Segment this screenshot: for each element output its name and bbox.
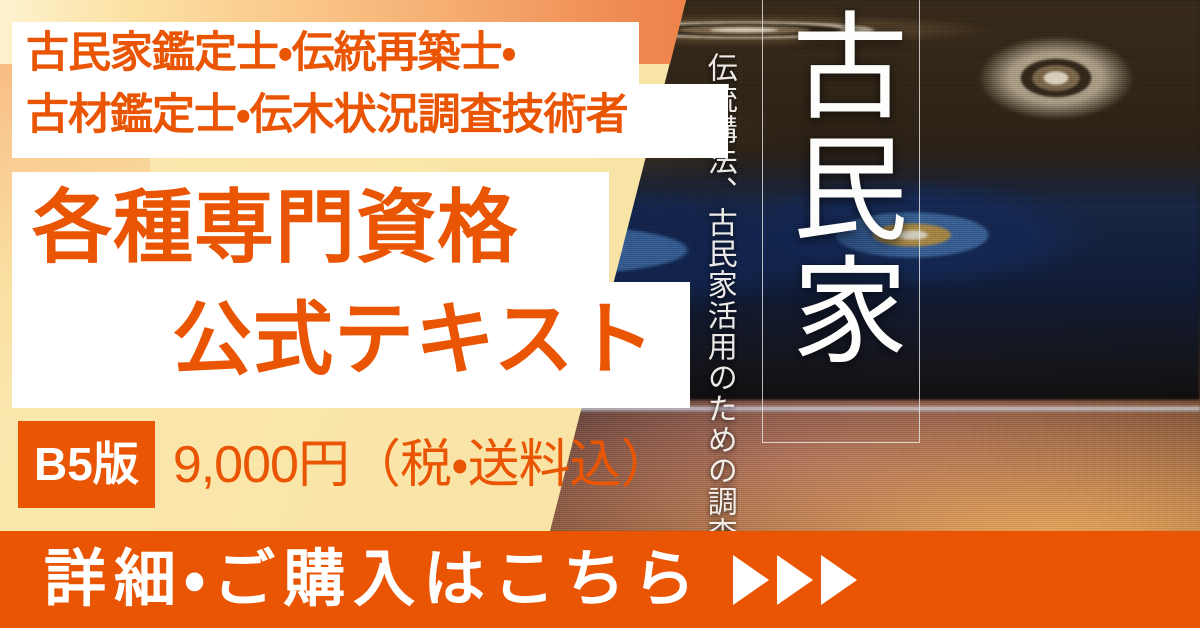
triangle-right-icon (821, 555, 857, 605)
main-title-line-1: 各種専門資格 (12, 172, 690, 284)
certifications-line-2: 古材鑑定士・伝木状況調査技術者 (12, 84, 728, 146)
cta-bar[interactable]: 詳細・ご購入はこちら (0, 531, 1200, 628)
triangle-right-icon (733, 555, 769, 605)
promotional-banner: 古民家 伝統構法、古民家活用のための調査と再生の 古民家鑑定士・伝統再築士・ 古… (0, 0, 1200, 628)
main-title-box: 各種専門資格 公式テキスト (12, 172, 690, 408)
format-badge: B5版 (18, 421, 155, 508)
price-amount: 9,000円（税・送料込） (173, 439, 672, 491)
triangle-right-icon (777, 555, 813, 605)
cta-arrows (733, 555, 857, 605)
cta-label: 詳細・ご購入はこちら (44, 549, 703, 611)
certifications-line-1: 古民家鑑定士・伝統再築士・ (12, 22, 728, 84)
certifications-box: 古民家鑑定士・伝統再築士・ 古材鑑定士・伝木状況調査技術者 (12, 22, 728, 158)
book-cover-title: 古民家 (778, 6, 902, 372)
main-title-line-2: 公式テキスト (12, 284, 690, 396)
price-row: B5版 9,000円（税・送料込） (18, 421, 672, 508)
